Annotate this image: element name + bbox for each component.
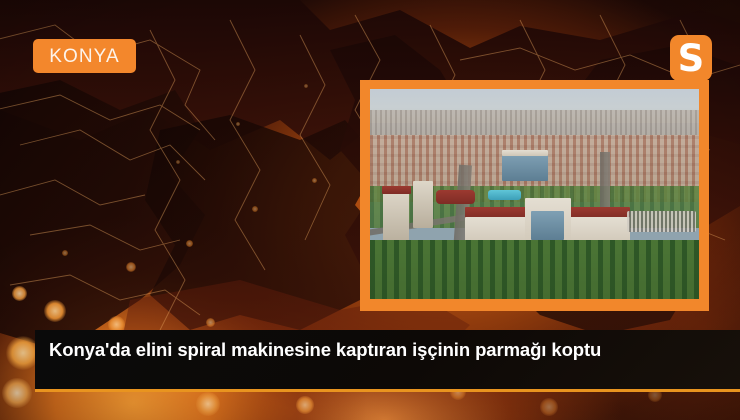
photo-building — [382, 186, 412, 194]
photo-building — [436, 190, 475, 205]
photo-building — [502, 154, 548, 181]
brand-logo: S — [670, 35, 712, 81]
photo-building — [502, 150, 548, 156]
photo-building — [413, 181, 433, 227]
city-badge-label: KONYA — [49, 47, 120, 66]
photo-building — [531, 211, 564, 240]
headline-text: Konya'da elini spiral makinesine kaptıra… — [49, 338, 689, 361]
photo-card — [360, 80, 709, 311]
photo-aerial-konya — [370, 89, 699, 299]
photo-building — [383, 190, 409, 245]
photo-parking-lot — [627, 211, 696, 232]
brand-logo-letter: S — [678, 40, 705, 77]
news-card: KONYA — [0, 0, 740, 420]
photo-foreground-trees — [370, 240, 699, 299]
headline-bar: Konya'da elini spiral makinesine kaptıra… — [35, 330, 740, 392]
photo-pool — [488, 190, 521, 201]
city-badge: KONYA — [33, 39, 136, 73]
